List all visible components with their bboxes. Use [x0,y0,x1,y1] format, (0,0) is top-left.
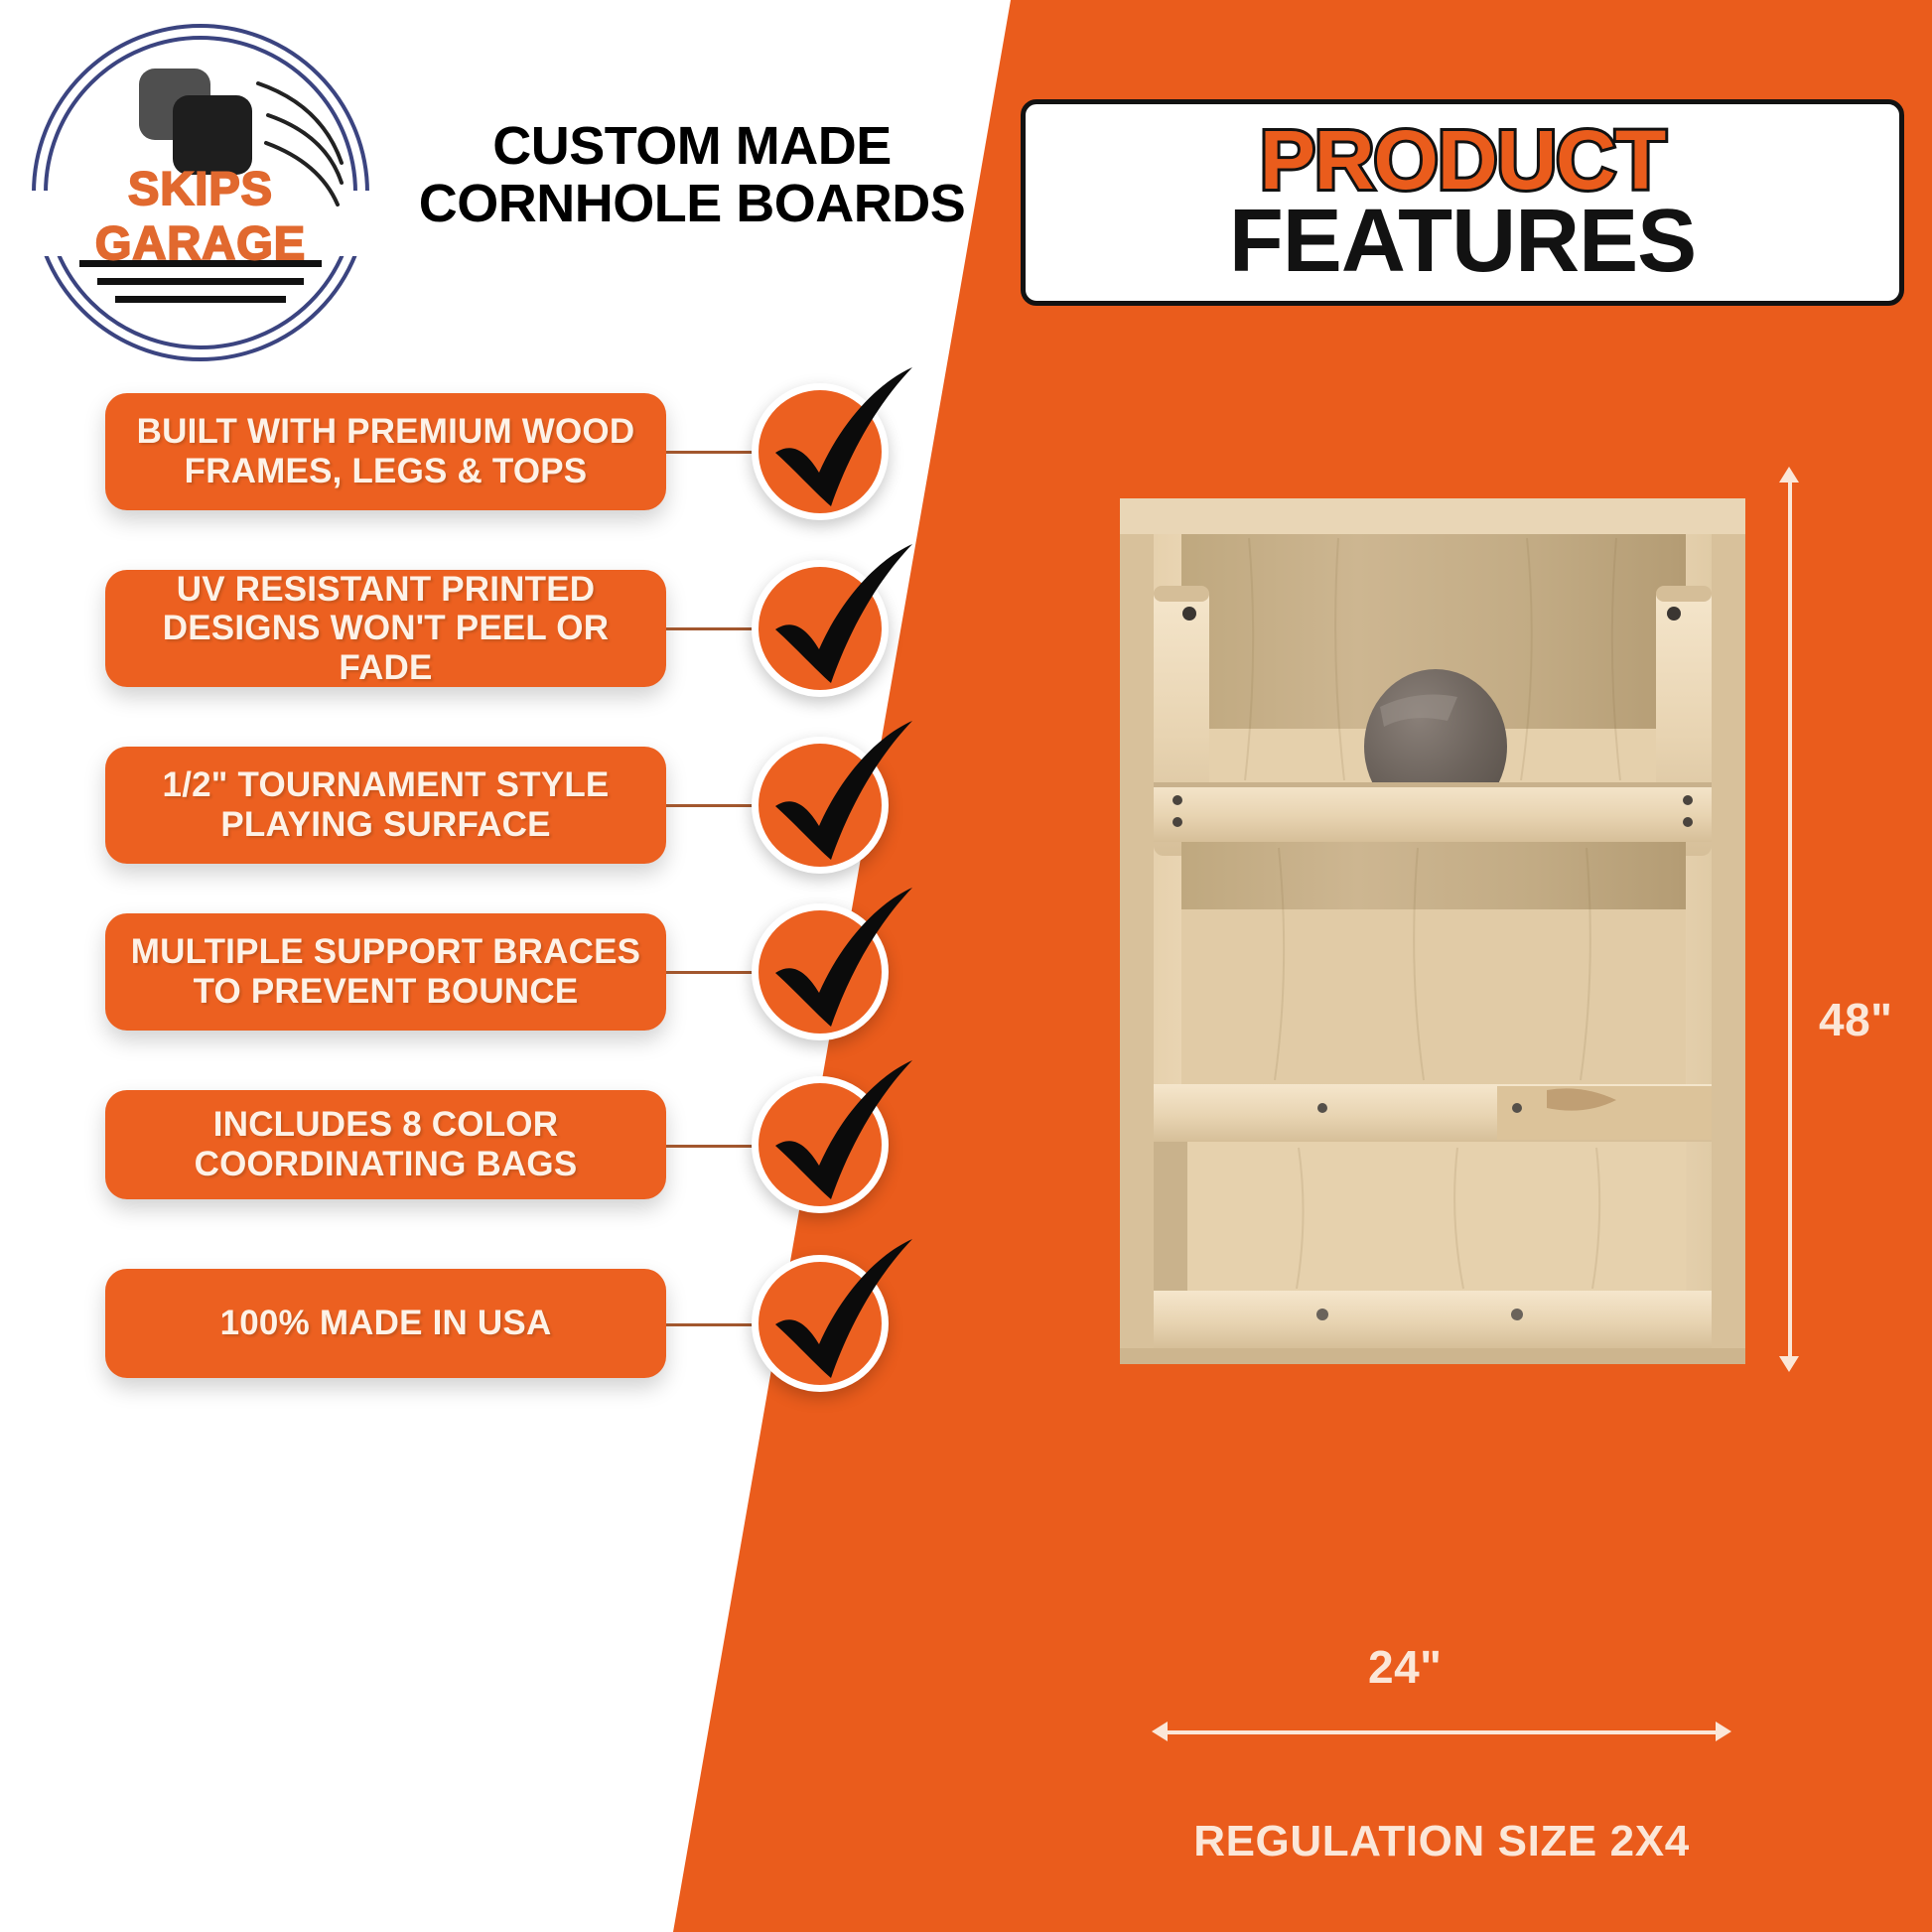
check-icon [752,1255,889,1392]
feature-connector-line [666,804,756,807]
feature-pill[interactable]: 1/2" TOURNAMENT STYLE PLAYING SURFACE [105,747,666,864]
feature-connector-line [666,1145,756,1148]
regulation-size-note: REGULATION SIZE 2X4 [1152,1817,1731,1866]
product-image-cornhole-board [1120,498,1745,1364]
height-dimension-label: 48" [1819,993,1892,1046]
feature-pill[interactable]: INCLUDES 8 COLOR COORDINATING BAGS [105,1090,666,1199]
feature-row: 100% MADE IN USA [0,1269,1003,1388]
feature-row: 1/2" TOURNAMENT STYLE PLAYING SURFACE [0,747,1003,866]
brand-logo: SKIPS GARAGE [22,14,379,371]
feature-row: INCLUDES 8 COLOR COORDINATING BAGS [0,1090,1003,1209]
feature-pill[interactable]: 100% MADE IN USA [105,1269,666,1378]
feature-row: MULTIPLE SUPPORT BRACES TO PREVENT BOUNC… [0,913,1003,1033]
cornhole-board-illustration [1120,498,1745,1364]
height-dimension-arrow [1787,467,1793,1372]
feature-row: UV RESISTANT PRINTED DESIGNS WON'T PEEL … [0,570,1003,689]
product-features-header-card: PRODUCT FEATURES [1021,99,1904,306]
check-icon [752,560,889,697]
check-icon [752,383,889,520]
feature-row: BUILT WITH PREMIUM WOOD FRAMES, LEGS & T… [0,393,1003,512]
header-line-product: PRODUCT [1260,122,1665,199]
feature-connector-line [666,971,756,974]
check-icon [752,737,889,874]
width-dimension-label: 24" [1368,1640,1442,1694]
feature-connector-line [666,451,756,454]
width-dimension-arrow [1152,1729,1731,1735]
logo-wordmark: SKIPS GARAGE [22,161,379,270]
check-icon [752,903,889,1040]
check-icon [752,1076,889,1213]
feature-connector-line [666,1323,756,1326]
feature-pill[interactable]: UV RESISTANT PRINTED DESIGNS WON'T PEEL … [105,570,666,687]
feature-connector-line [666,627,756,630]
feature-pill[interactable]: BUILT WITH PREMIUM WOOD FRAMES, LEGS & T… [105,393,666,510]
header-line-features: FEATURES [1229,201,1696,283]
feature-pill[interactable]: MULTIPLE SUPPORT BRACES TO PREVENT BOUNC… [105,913,666,1031]
page-title: CUSTOM MADE CORNHOLE BOARDS [389,117,995,233]
